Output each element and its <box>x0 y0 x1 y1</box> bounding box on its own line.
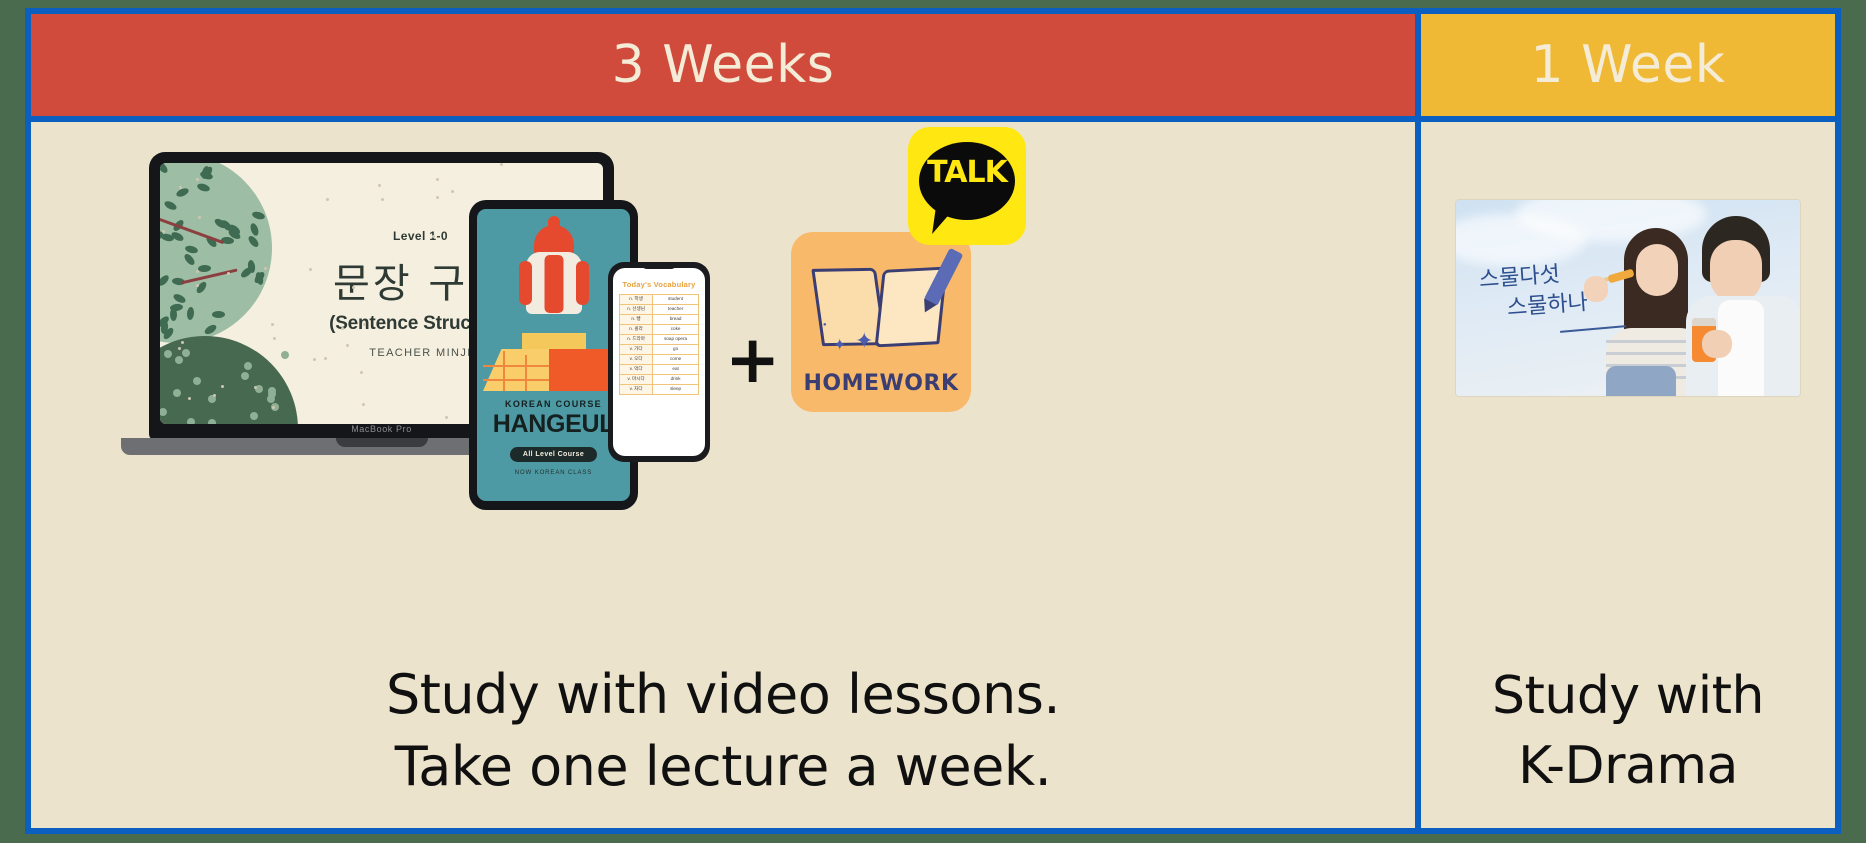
speck <box>445 416 448 419</box>
speck <box>352 286 355 289</box>
vocabulary-korean: n. 콜라 <box>620 324 653 334</box>
speck <box>378 184 381 187</box>
vocabulary-title: Today's Vocabulary <box>619 280 699 289</box>
actor-face <box>1710 240 1762 302</box>
vocabulary-korean: v. 먹다 <box>620 364 653 374</box>
speck <box>326 198 329 201</box>
vocabulary-english: student <box>653 295 699 305</box>
header-cell-one-week: 1 Week <box>1421 14 1835 116</box>
sparkle-icon: ✦ <box>855 330 873 352</box>
robe-arm-right-icon <box>576 261 589 305</box>
dot-icon <box>268 390 276 398</box>
speck <box>451 190 454 193</box>
tablet-course-badge: All Level Course <box>510 447 597 462</box>
vocabulary-row: n. 드라마soap opera <box>620 334 699 344</box>
dot-icon <box>173 389 181 397</box>
right-media-zone: 스물다섯 스물하나 <box>1421 122 1835 661</box>
speck <box>362 403 365 406</box>
right-caption-line1: Study with <box>1421 661 1835 732</box>
actor-hand <box>1702 330 1732 358</box>
kakao-talk-label: TALK <box>908 155 1026 190</box>
left-caption-line2: Take one lecture a week. <box>31 731 1415 802</box>
actress-face <box>1636 244 1678 296</box>
vocabulary-table: n. 학생studentn. 선생님teachern. 빵breadn. 콜라c… <box>619 294 699 395</box>
left-caption-line1: Study with video lessons. <box>31 659 1415 730</box>
speck <box>313 358 316 361</box>
vocabulary-row: n. 학생student <box>620 295 699 305</box>
leaf-icon <box>160 163 169 175</box>
speck <box>324 357 327 360</box>
speck <box>271 323 274 326</box>
left-column: Level 1-0 문장 구조 (Sentence Structure) TEA… <box>31 122 1421 828</box>
tablet-brand: NOW KOREAN CLASS <box>477 470 630 476</box>
homework-card: ✦ ✦ ● HOMEWORK <box>791 232 971 412</box>
vocabulary-korean: n. 빵 <box>620 314 653 324</box>
screenshot-root: 3 Weeks 1 Week <box>0 0 1866 843</box>
mat-grid-line <box>483 365 549 367</box>
laptop-notch <box>336 438 428 447</box>
vocabulary-english: teacher <box>653 304 699 314</box>
leaf-icon <box>175 187 190 199</box>
phone-notch <box>641 262 677 269</box>
vocabulary-english: bread <box>653 314 699 324</box>
speck <box>188 397 191 400</box>
speck <box>162 230 165 233</box>
speck <box>500 163 503 166</box>
vocabulary-row: v. 오다come <box>620 354 699 364</box>
right-caption-line2: K-Drama <box>1421 731 1835 802</box>
can-cap <box>1692 318 1716 326</box>
speck <box>436 196 439 199</box>
speck <box>346 344 349 347</box>
speck <box>198 216 201 219</box>
homework-label: HOMEWORK <box>791 371 971 396</box>
leaf-icon <box>196 183 211 194</box>
speck <box>432 235 435 238</box>
dot-icon <box>160 408 167 416</box>
speck <box>264 267 267 270</box>
mat-icon <box>483 349 549 391</box>
vocabulary-english: coke <box>653 324 699 334</box>
speech-bubble-tail-icon <box>932 206 949 236</box>
dais-icon <box>522 333 586 349</box>
vocabulary-english: soap opera <box>653 334 699 344</box>
dot-icon <box>193 377 201 385</box>
right-column: 스물다섯 스물하나 Study with K-Drama <box>1421 122 1835 828</box>
vocabulary-row: v. 자다sleep <box>620 384 699 394</box>
actress-jeans <box>1606 366 1676 396</box>
header-cell-three-weeks: 3 Weeks <box>31 14 1421 116</box>
speck <box>436 178 439 181</box>
leaf-icon <box>251 211 265 221</box>
sparkle-icon: ✦ <box>833 338 846 354</box>
vocabulary-korean: n. 드라마 <box>620 334 653 344</box>
vocabulary-english: come <box>653 354 699 364</box>
dot-icon <box>241 372 249 380</box>
vocabulary-english: eat <box>653 364 699 374</box>
plus-icon: + <box>725 327 780 393</box>
kdrama-poster: 스물다섯 스물하나 <box>1456 200 1800 396</box>
phone-illustration: Today's Vocabulary n. 학생studentn. 선생님tea… <box>608 262 710 462</box>
mat-grid-line <box>483 379 549 381</box>
vocabulary-row: n. 선생님teacher <box>620 304 699 314</box>
right-caption: Study with K-Drama <box>1421 661 1835 828</box>
vocabulary-row: n. 콜라coke <box>620 324 699 334</box>
vocabulary-korean: v. 가다 <box>620 344 653 354</box>
vocabulary-row: v. 마시다drink <box>620 374 699 384</box>
dot-icon <box>208 419 216 424</box>
open-book-icon: ✦ ✦ ● <box>817 264 945 350</box>
gat-hat-icon <box>534 225 574 255</box>
dot-icon <box>187 418 195 424</box>
comparison-table: 3 Weeks 1 Week <box>25 8 1841 834</box>
dot-icon <box>250 412 258 420</box>
left-media-zone: Level 1-0 문장 구조 (Sentence Structure) TEA… <box>31 122 1415 659</box>
vocabulary-row: v. 가다go <box>620 344 699 354</box>
vocabulary-english: sleep <box>653 384 699 394</box>
laptop-device-label: MacBook Pro <box>351 424 412 434</box>
leaf-icon <box>163 200 178 212</box>
speck <box>360 371 363 374</box>
sparkle-icon: ● <box>823 322 827 328</box>
vocabulary-korean: v. 마시다 <box>620 374 653 384</box>
vocabulary-korean: n. 학생 <box>620 295 653 305</box>
robe-arm-left-icon <box>519 261 532 305</box>
vocabulary-english: drink <box>653 374 699 384</box>
left-caption: Study with video lessons. Take one lectu… <box>31 659 1415 828</box>
header-right-label: 1 Week <box>1530 35 1725 95</box>
mat-grid-line <box>525 355 527 391</box>
kakaotalk-icon: TALK <box>908 127 1026 245</box>
header-left-label: 3 Weeks <box>612 35 835 95</box>
speck <box>381 198 384 201</box>
kdrama-title-underline <box>1560 325 1626 333</box>
phone-screen: Today's Vocabulary n. 학생studentn. 선생님tea… <box>613 268 705 456</box>
vocabulary-row: v. 먹다eat <box>620 364 699 374</box>
table-header-row: 3 Weeks 1 Week <box>31 14 1835 122</box>
speck <box>196 178 199 181</box>
speck <box>196 270 199 273</box>
robe-inner-icon <box>544 255 563 313</box>
hanbok-figure-icon <box>517 225 591 337</box>
table-body-row: Level 1-0 문장 구조 (Sentence Structure) TEA… <box>31 122 1835 828</box>
vocabulary-korean: n. 선생님 <box>620 304 653 314</box>
mat-grid-line <box>503 351 505 391</box>
vocabulary-korean: v. 자다 <box>620 384 653 394</box>
kdrama-title-line2: 스물하나 <box>1506 288 1589 323</box>
kdrama-title: 스물다섯 스물하나 <box>1478 258 1589 325</box>
dot-icon <box>244 362 252 370</box>
vocabulary-english: go <box>653 344 699 354</box>
kdrama-title-line1: 스물다섯 <box>1478 262 1561 293</box>
vocabulary-row: n. 빵bread <box>620 314 699 324</box>
vocabulary-korean: v. 오다 <box>620 354 653 364</box>
